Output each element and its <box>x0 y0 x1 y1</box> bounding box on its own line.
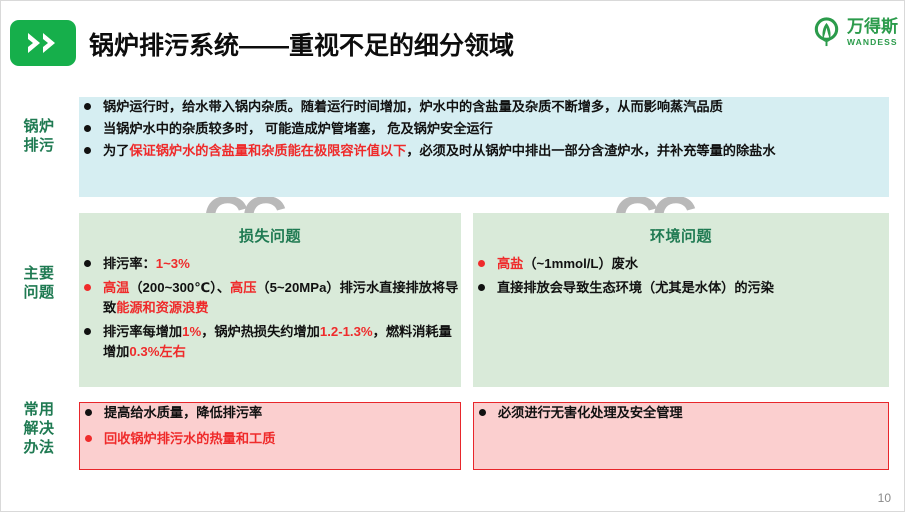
loss-problem-bullet-list: 排污率：1~3%高温（200~300℃）、高压（5~20MPa）排污水直接排放将… <box>79 254 461 362</box>
double-chevron-right-icon <box>10 20 76 66</box>
bullet-item: 排污率每增加1%，锅炉热损失约增加1.2-1.3%，燃料消耗量增加0.3%左右 <box>79 322 461 362</box>
bullet-text-run: ，必须及时从锅炉中排出一部分含渣炉水，并补充等量的除盐水 <box>406 143 775 158</box>
bullet-text-run: 当锅炉水中的杂质较多时， 可能造成炉管堵塞， 危及锅炉安全运行 <box>103 121 493 136</box>
bullet-dot-icon <box>85 435 92 442</box>
solutions-left-box: 提高给水质量，降低排污率回收锅炉排污水的热量和工质 <box>79 402 461 470</box>
bullet-dot-icon <box>478 284 485 291</box>
bullet-item: 提高给水质量，降低排污率 <box>80 403 460 423</box>
row-label-common-solutions: 常用解决办法 <box>9 400 69 458</box>
bullet-item: 必须进行无害化处理及安全管理 <box>474 403 888 423</box>
bullet-text-run: （200~300℃）、 <box>129 280 230 295</box>
bullet-dot-icon <box>478 260 485 267</box>
bullet-item: 排污率：1~3% <box>79 254 461 274</box>
solutions-right-box: 必须进行无害化处理及安全管理 <box>473 402 889 470</box>
bullet-dot-icon <box>84 147 91 154</box>
boiler-blowdown-bullet-list: 锅炉运行时，给水带入锅内杂质。随着运行时间增加，炉水中的含盐量及杂质不断增多，从… <box>79 97 889 161</box>
loss-problem-title: 损失问题 <box>79 225 461 246</box>
bullet-item: 锅炉运行时，给水带入锅内杂质。随着运行时间增加，炉水中的含盐量及杂质不断增多，从… <box>79 97 889 117</box>
bullet-text-run: （~1mmol/L）废水 <box>523 256 638 271</box>
bullet-dot-icon <box>84 103 91 110</box>
loss-problem-box: 损失问题 排污率：1~3%高温（200~300℃）、高压（5~20MPa）排污水… <box>79 213 461 387</box>
bullet-dot-icon <box>85 409 92 416</box>
bullet-text-run: 排污率每增加 <box>103 324 182 339</box>
solutions-left-bullet-list: 提高给水质量，降低排污率回收锅炉排污水的热量和工质 <box>80 403 460 449</box>
bullet-text-run: 排污率： <box>103 256 156 271</box>
boiler-blowdown-box: 锅炉运行时，给水带入锅内杂质。随着运行时间增加，炉水中的含盐量及杂质不断增多，从… <box>79 97 889 197</box>
bullet-dot-icon <box>84 284 91 291</box>
page-title: 锅炉排污系统——重视不足的细分领域 <box>89 26 514 62</box>
page-number: 10 <box>878 491 891 505</box>
bullet-text-run: 保证锅炉水的含盐量和杂质能在极限容许值以下 <box>129 143 406 158</box>
bullet-item: 回收锅炉排污水的热量和工质 <box>80 429 460 449</box>
slide: 锅炉排污系统——重视不足的细分领域 万得斯 WANDESS CC CC 锅炉排污… <box>0 0 905 512</box>
row-label-boiler-blowdown: 锅炉排污 <box>9 117 69 155</box>
bullet-text-run: 1.2-1.3% <box>320 324 373 339</box>
bullet-text-run: 高温 <box>103 280 129 295</box>
bullet-text-run: 0.3%左右 <box>129 344 185 359</box>
bullet-dot-icon <box>84 260 91 267</box>
solutions-right-bullet-list: 必须进行无害化处理及安全管理 <box>474 403 888 423</box>
bullet-text-run: 高盐 <box>497 256 523 271</box>
bullet-text-run: 1~3% <box>156 256 190 271</box>
bullet-item: 为了保证锅炉水的含盐量和杂质能在极限容许值以下，必须及时从锅炉中排出一部分含渣炉… <box>79 141 889 161</box>
bullet-text-run: 高压 <box>230 280 256 295</box>
bullet-text-run: 直接排放会导致生态环境（尤其是水体）的污染 <box>497 280 774 295</box>
slide-header: 锅炉排污系统——重视不足的细分领域 万得斯 WANDESS <box>1 1 905 79</box>
logo-text-cn: 万得斯 <box>847 18 898 35</box>
bullet-text-run: 锅炉运行时，给水带入锅内杂质。随着运行时间增加，炉水中的含盐量及杂质不断增多，从… <box>103 99 723 114</box>
plant-leaf-icon <box>811 17 842 48</box>
environment-problem-title: 环境问题 <box>473 225 889 246</box>
bullet-dot-icon <box>479 409 486 416</box>
bullet-text-run: 能源和资源浪费 <box>116 300 208 315</box>
bullet-text-run: 1% <box>182 324 201 339</box>
bullet-dot-icon <box>84 328 91 335</box>
bullet-item: 高温（200~300℃）、高压（5~20MPa）排污水直接排放将导致能源和资源浪… <box>79 278 461 318</box>
logo-text-en: WANDESS <box>847 38 898 47</box>
bullet-text-run: 为了 <box>103 143 129 158</box>
bullet-text-run: 回收锅炉排污水的热量和工质 <box>104 431 275 446</box>
brand-logo: 万得斯 WANDESS <box>811 10 898 54</box>
bullet-text-run: ，锅炉热损失约增加 <box>201 324 320 339</box>
environment-problem-box: 环境问题 高盐（~1mmol/L）废水直接排放会导致生态环境（尤其是水体）的污染 <box>473 213 889 387</box>
bullet-text-run: 必须进行无害化处理及安全管理 <box>498 405 683 420</box>
environment-problem-bullet-list: 高盐（~1mmol/L）废水直接排放会导致生态环境（尤其是水体）的污染 <box>473 254 889 298</box>
bullet-item: 当锅炉水中的杂质较多时， 可能造成炉管堵塞， 危及锅炉安全运行 <box>79 119 889 139</box>
bullet-text-run: 提高给水质量，降低排污率 <box>104 405 262 420</box>
bullet-dot-icon <box>84 125 91 132</box>
bullet-item: 直接排放会导致生态环境（尤其是水体）的污染 <box>473 278 889 298</box>
bullet-item: 高盐（~1mmol/L）废水 <box>473 254 889 274</box>
row-label-main-problems: 主要问题 <box>9 264 69 302</box>
